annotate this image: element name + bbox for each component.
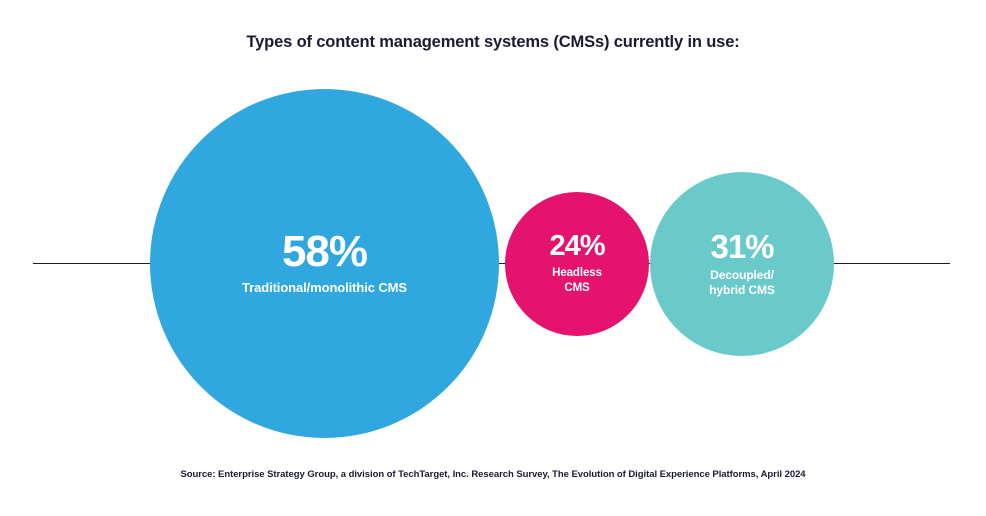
bubble-decoupled-hybrid-cms[interactable]: 31% Decoupled/ hybrid CMS [650,172,834,356]
infographic-canvas: Types of content management systems (CMS… [0,0,986,516]
page-title: Types of content management systems (CMS… [0,33,986,52]
bubble-headless-cms[interactable]: 24% Headless CMS [505,192,649,336]
bubble-label-line: CMS [552,281,602,296]
bubble-value: 24% [549,232,604,261]
bubble-label-line: Decoupled/ [709,268,775,283]
bubble-label-line: hybrid CMS [709,283,775,298]
bubble-value: 31% [710,230,773,263]
bubble-label: Decoupled/ hybrid CMS [709,268,775,299]
bubble-label-line: Headless [552,266,602,281]
source-attribution: Source: Enterprise Strategy Group, a div… [0,469,986,480]
bubble-label: Headless CMS [552,266,602,295]
bubble-label-line: Traditional/monolithic CMS [242,280,407,297]
bubble-label: Traditional/monolithic CMS [242,280,407,297]
bubble-traditional-monolithic-cms[interactable]: 58% Traditional/monolithic CMS [150,89,499,438]
bubble-value: 58% [282,230,367,274]
